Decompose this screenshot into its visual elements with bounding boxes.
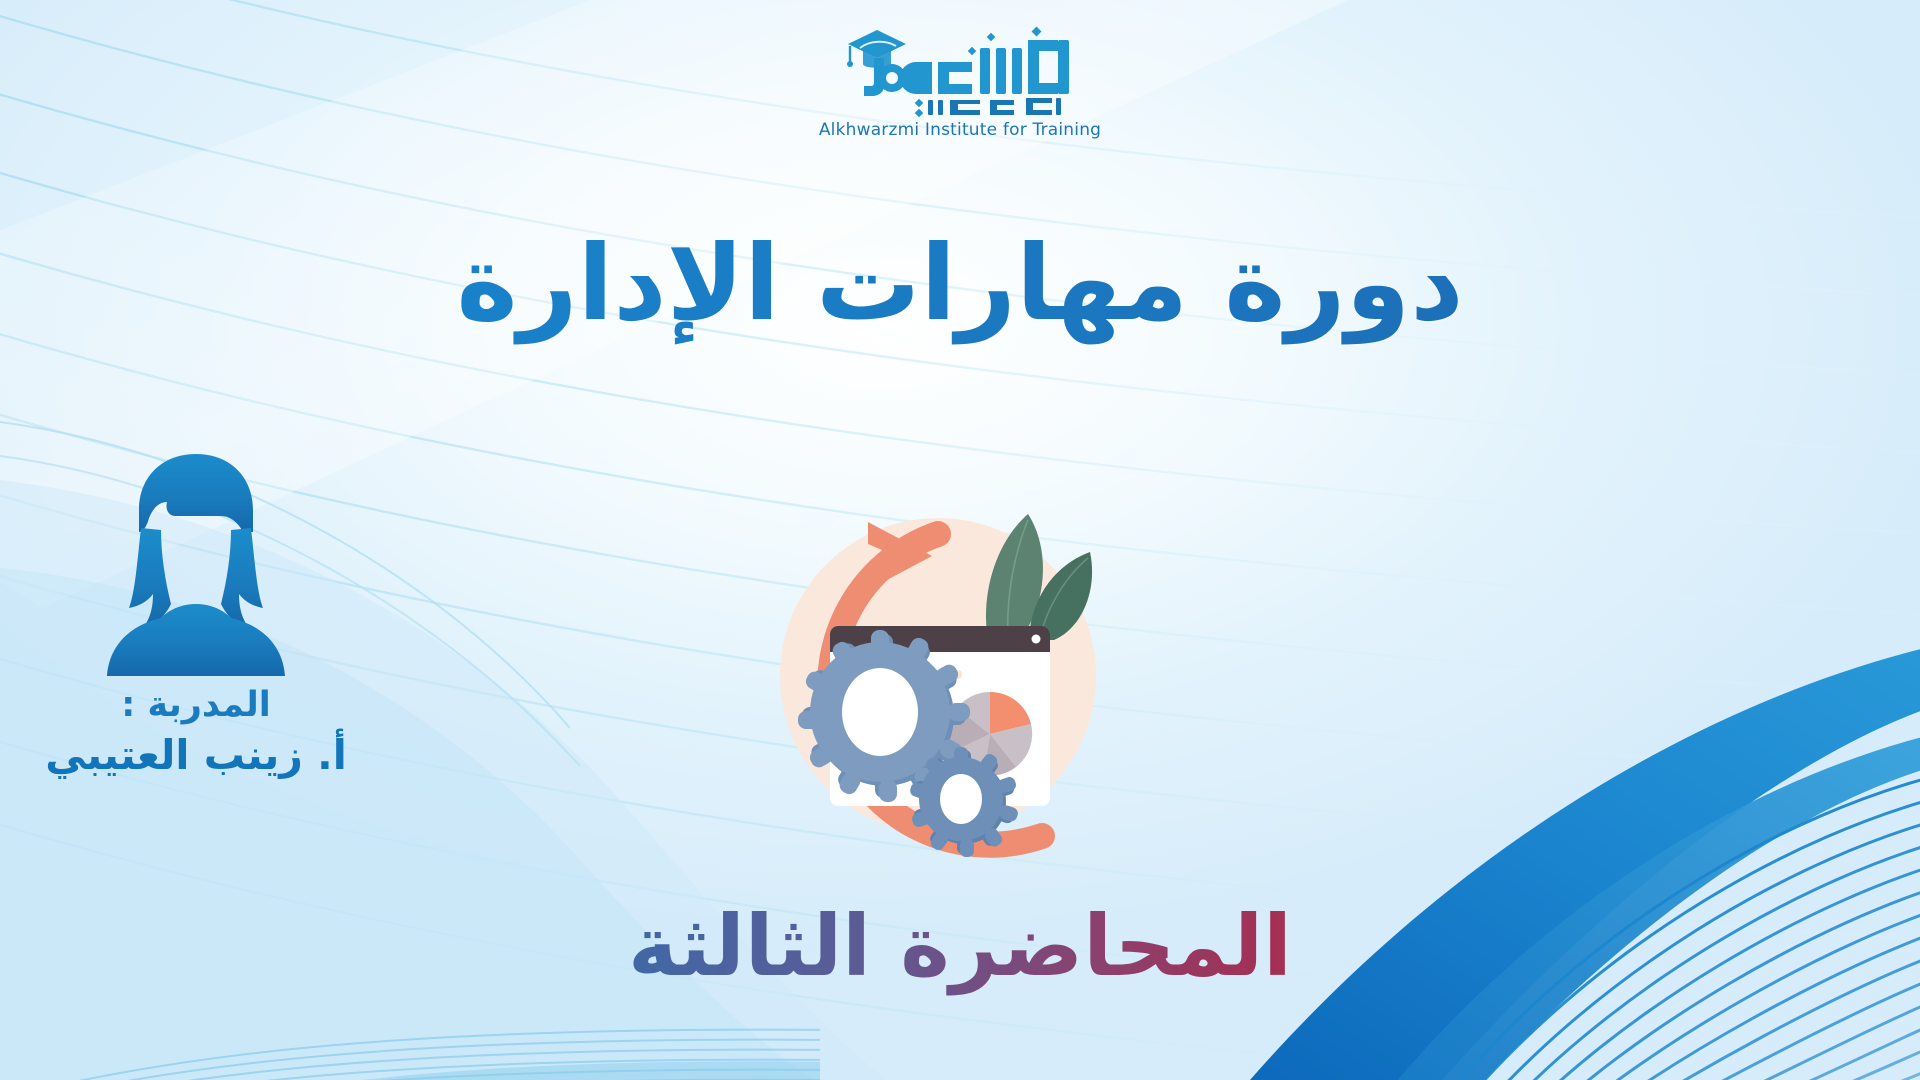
trainer-name: أ. زينب العتيبي xyxy=(26,730,366,781)
slide-canvas: Alkhwarzmi Institute for Training دورة م… xyxy=(0,0,1920,1080)
institute-logo: Alkhwarzmi Institute for Training xyxy=(750,18,1170,140)
course-title: دورة مهارات الإدارة xyxy=(0,222,1920,345)
trainer-role-label: المدربة : xyxy=(26,684,366,728)
trainer-block: المدربة : أ. زينب العتيبي xyxy=(26,452,366,781)
management-process-illustration xyxy=(742,498,1146,864)
institute-english-name: Alkhwarzmi Institute for Training xyxy=(750,120,1170,140)
female-avatar-icon xyxy=(103,452,289,678)
logo-arabic-wordmark xyxy=(830,18,1090,118)
lecture-label: المحاضرة الثالثة xyxy=(0,896,1920,997)
